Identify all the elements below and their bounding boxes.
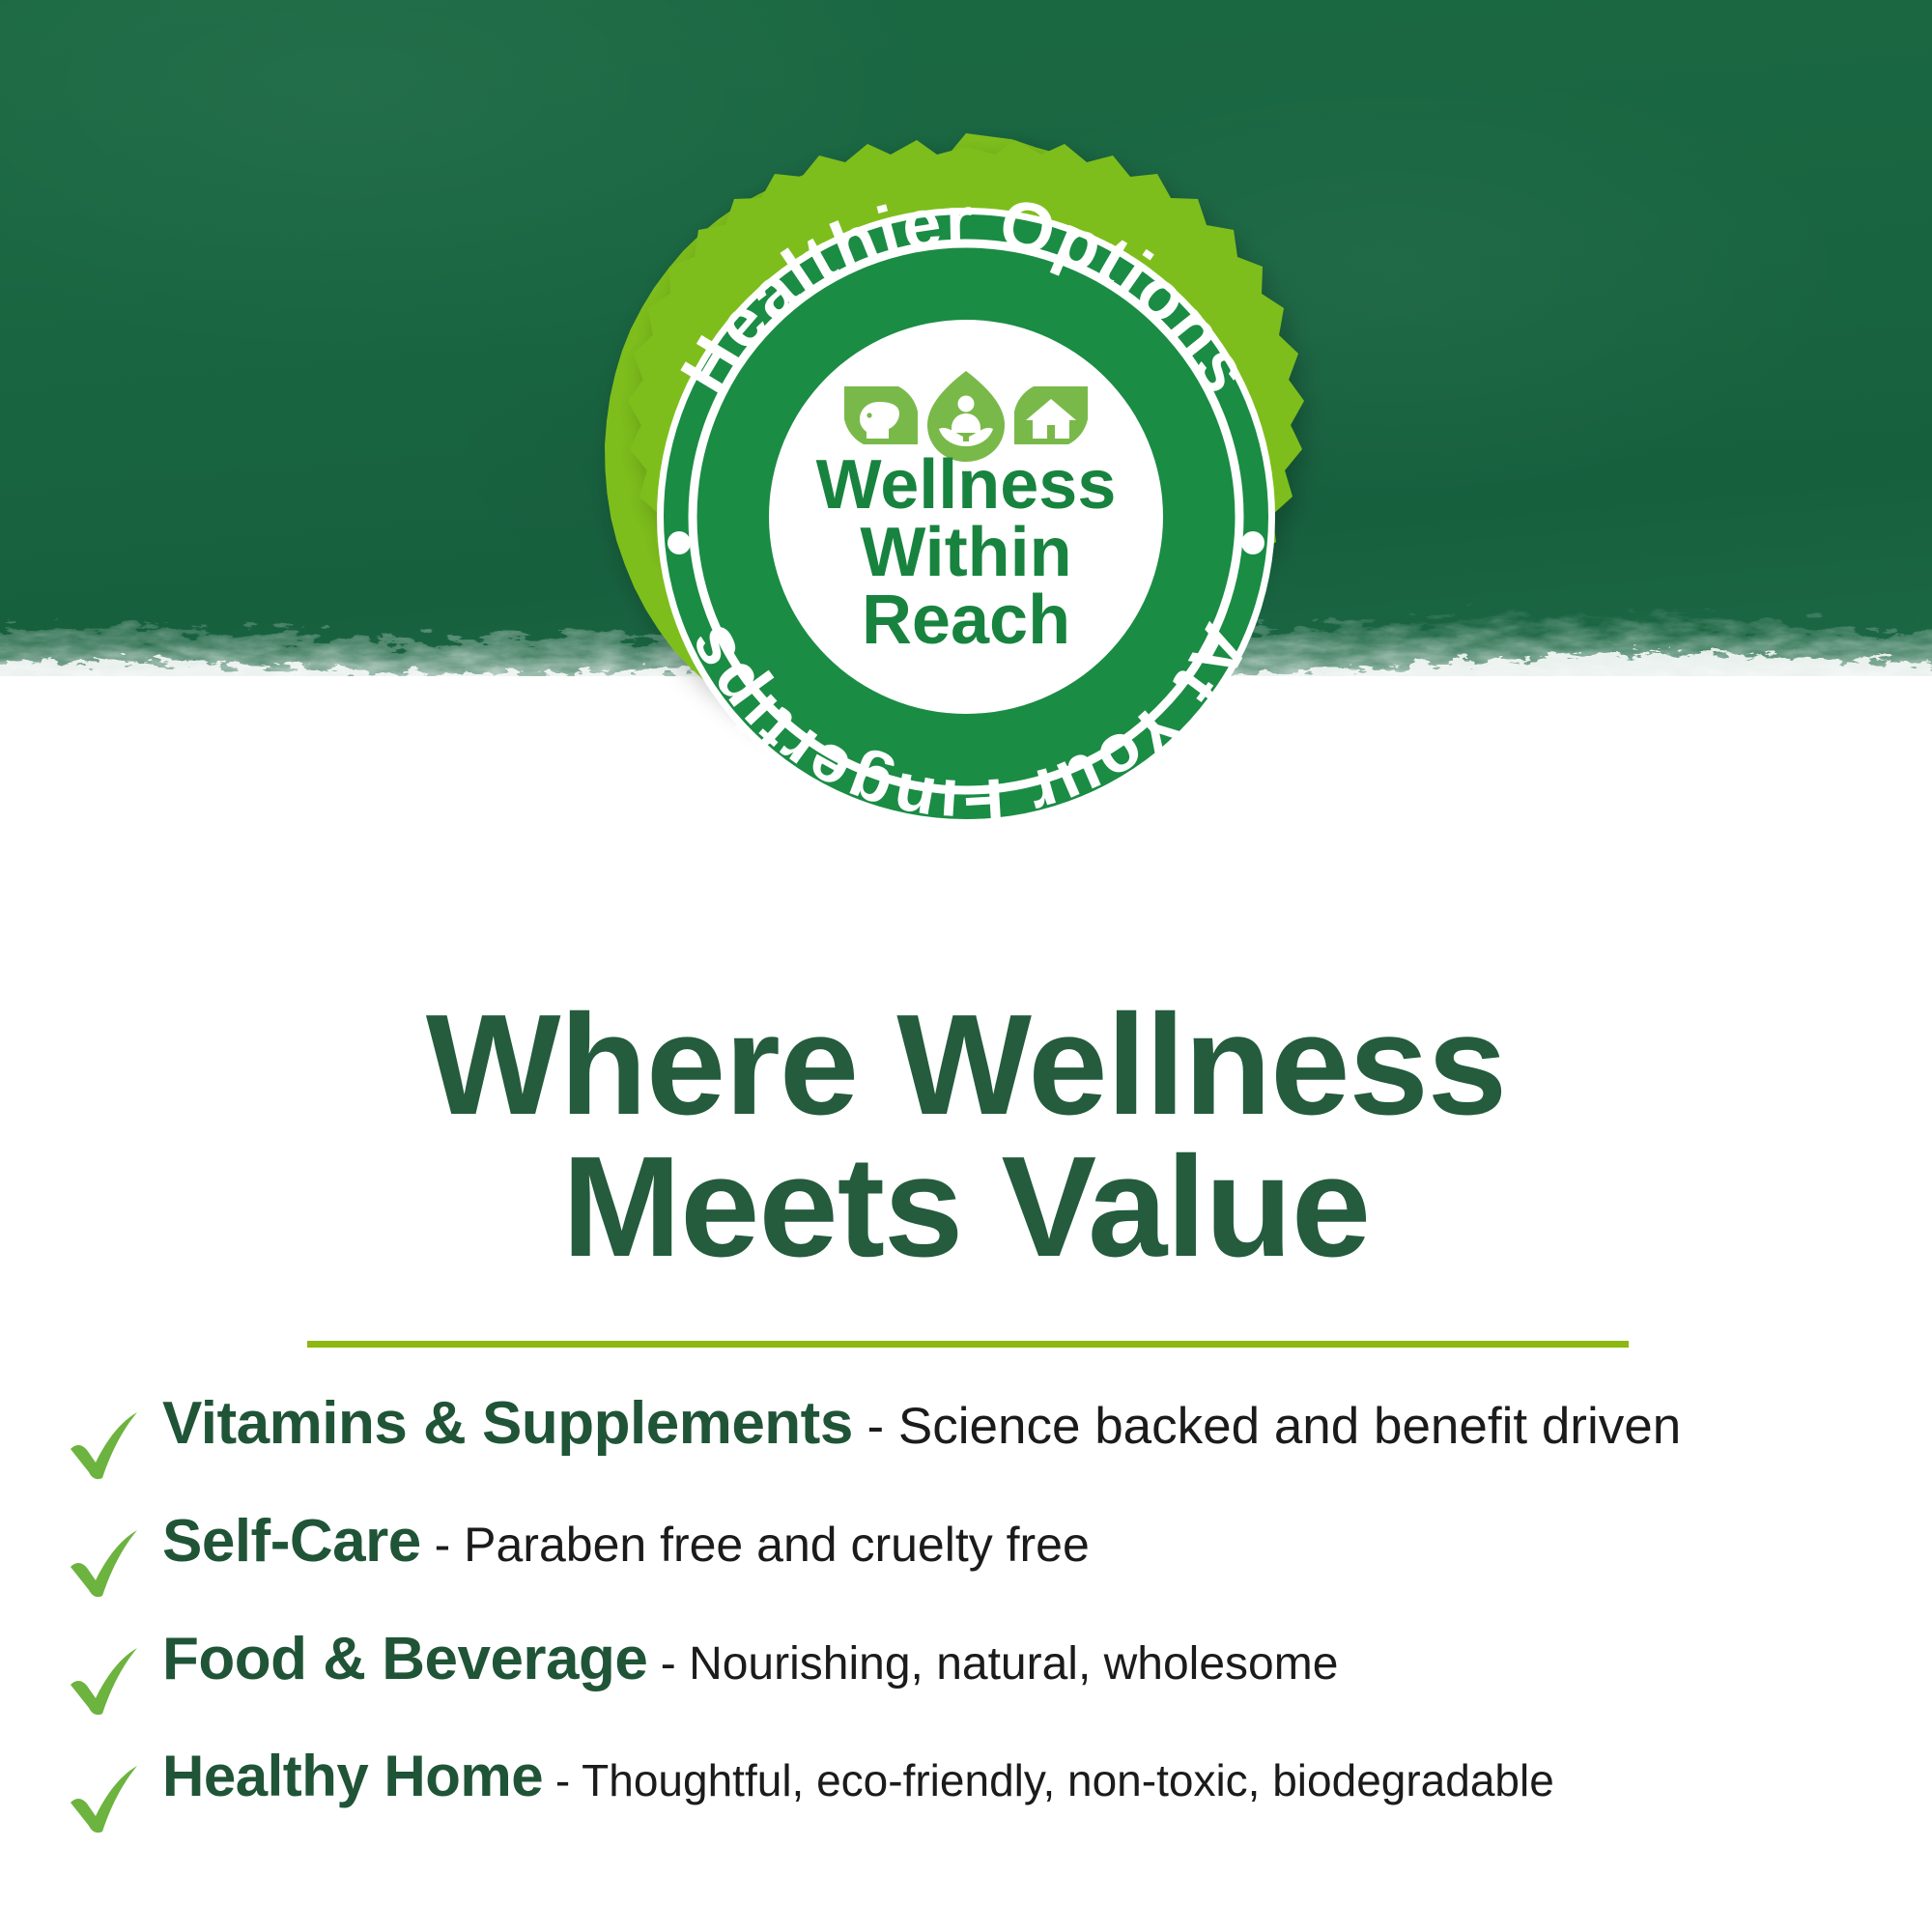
headline-line-1: Where Wellness bbox=[0, 995, 1932, 1137]
page-headline: Where Wellness Meets Value bbox=[0, 995, 1932, 1278]
wellness-badge: Healthier Options At Your Fingertips bbox=[575, 126, 1357, 908]
list-item-text: Healthy Home - Thoughtful, eco-friendly,… bbox=[162, 1743, 1554, 1809]
list-item-desc: - Nourishing, natural, wholesome bbox=[647, 1638, 1338, 1690]
feature-list: Vitamins & Supplements - Science backed … bbox=[56, 1389, 1891, 1861]
list-item-text: Food & Beverage - Nourishing, natural, w… bbox=[162, 1625, 1338, 1693]
list-item-desc: - Paraben free and cruelty free bbox=[421, 1518, 1090, 1572]
list-item-text: Vitamins & Supplements - Science backed … bbox=[162, 1389, 1681, 1458]
list-item: Healthy Home - Thoughtful, eco-friendly,… bbox=[56, 1743, 1891, 1861]
house-leaf-icon bbox=[1014, 386, 1088, 444]
check-icon bbox=[56, 1406, 162, 1490]
list-item-title: Food & Beverage bbox=[162, 1626, 647, 1692]
headline-divider bbox=[307, 1341, 1629, 1348]
badge-title-line3: Reach bbox=[862, 582, 1070, 659]
list-item-title: Vitamins & Supplements bbox=[162, 1390, 853, 1457]
head-profile-leaf-icon bbox=[844, 386, 918, 444]
check-icon bbox=[56, 1760, 162, 1843]
list-item: Food & Beverage - Nourishing, natural, w… bbox=[56, 1625, 1891, 1743]
badge-separator-dot-left bbox=[668, 531, 691, 554]
check-icon bbox=[56, 1642, 162, 1725]
list-item: Self-Care - Paraben free and cruelty fre… bbox=[56, 1507, 1891, 1625]
list-item-title: Healthy Home bbox=[162, 1744, 543, 1808]
list-item-title: Self-Care bbox=[162, 1508, 421, 1575]
check-icon bbox=[56, 1524, 162, 1607]
list-item-desc: - Science backed and benefit driven bbox=[853, 1398, 1681, 1455]
list-item-desc: - Thoughtful, eco-friendly, non-toxic, b… bbox=[543, 1755, 1554, 1805]
list-item-text: Self-Care - Paraben free and cruelty fre… bbox=[162, 1507, 1090, 1576]
badge-title-line1: Wellness bbox=[816, 446, 1117, 524]
list-item: Vitamins & Supplements - Science backed … bbox=[56, 1389, 1891, 1507]
headline-line-2: Meets Value bbox=[0, 1137, 1932, 1279]
badge-title-line2: Within bbox=[860, 514, 1071, 591]
badge-separator-dot-right bbox=[1241, 531, 1264, 554]
